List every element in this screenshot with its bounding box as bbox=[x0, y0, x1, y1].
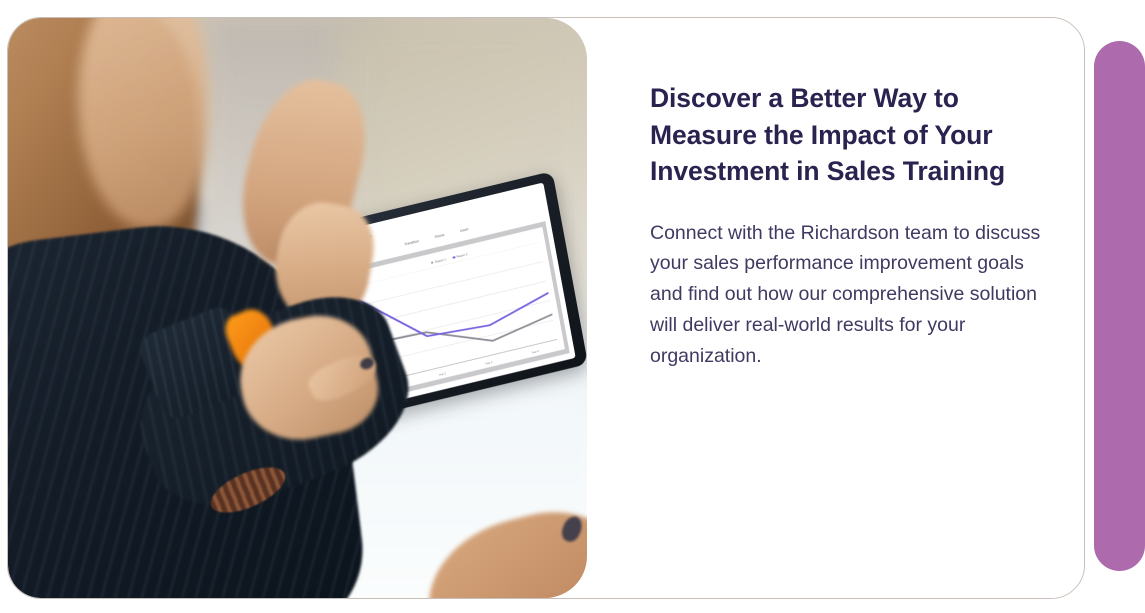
tablet-tab: Insert bbox=[460, 227, 469, 233]
legend-label: Region 1 bbox=[435, 257, 447, 264]
chart-legend-item: Region 2 bbox=[452, 252, 467, 259]
legend-swatch-icon bbox=[453, 256, 456, 259]
legend-swatch-icon bbox=[431, 261, 434, 264]
purple-accent-block bbox=[1094, 41, 1145, 571]
hero-photo-panel: Revenue and profit File Edit View Insert… bbox=[8, 18, 587, 598]
x-tick: Year 4 bbox=[531, 350, 539, 355]
tablet-tab: Theme bbox=[434, 233, 445, 239]
body-paragraph: Connect with the Richardson team to disc… bbox=[650, 218, 1050, 372]
legend-label: Region 2 bbox=[456, 252, 468, 259]
chart-legend-item: Region 1 bbox=[431, 257, 446, 264]
x-tick: Year 2 bbox=[439, 372, 447, 377]
promo-content-panel: Discover a Better Way to Measure the Imp… bbox=[587, 18, 1084, 598]
promo-card: Revenue and profit File Edit View Insert… bbox=[7, 17, 1085, 599]
tablet-tab: Transition bbox=[404, 239, 419, 246]
page-title: Discover a Better Way to Measure the Imp… bbox=[650, 80, 1050, 190]
ad-card-stage: Revenue and profit File Edit View Insert… bbox=[0, 0, 1145, 613]
x-tick: Year 3 bbox=[485, 361, 493, 366]
hero-photo: Revenue and profit File Edit View Insert… bbox=[8, 18, 587, 598]
